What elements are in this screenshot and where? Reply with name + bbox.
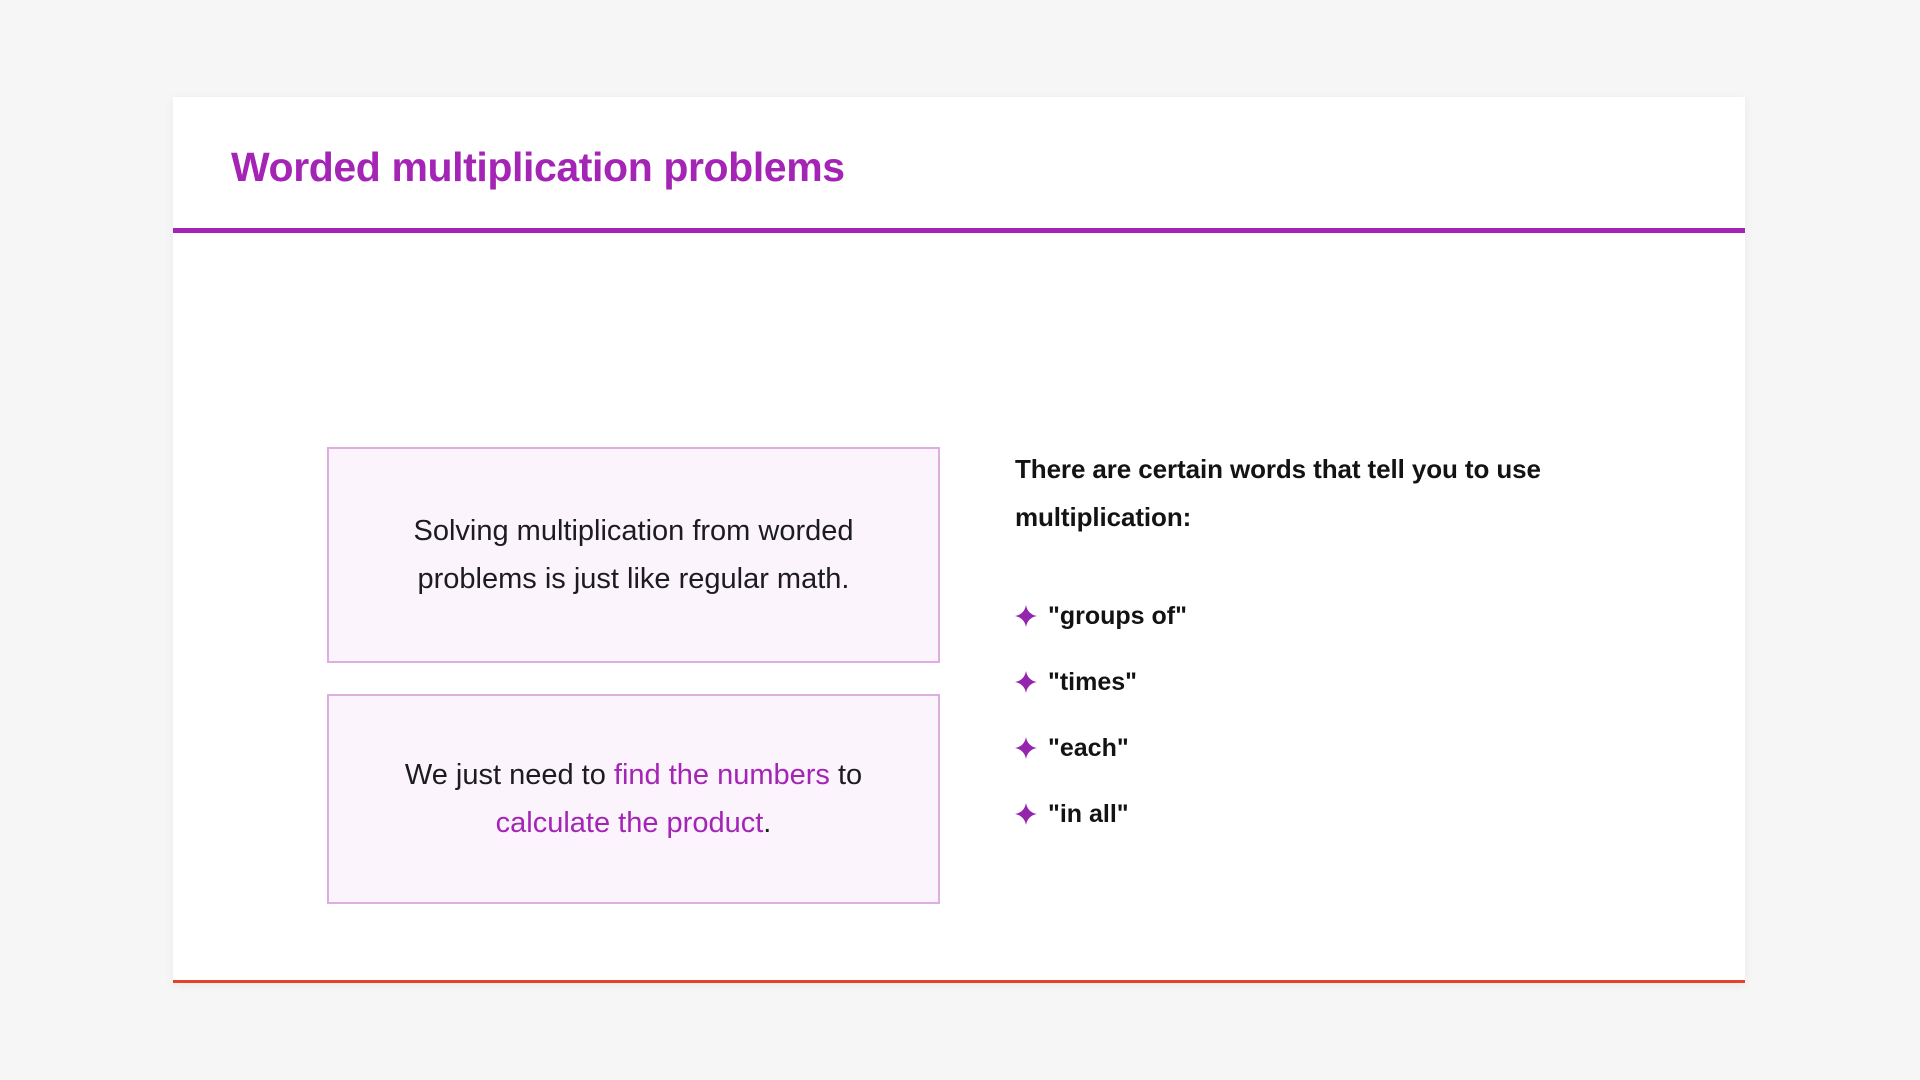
method-callout-text: We just need to find the numbers to calc…	[363, 751, 904, 847]
list-item: "in all"	[1015, 781, 1635, 847]
method-highlight-calculate-product: calculate the product	[496, 807, 764, 839]
slide-card: Worded multiplication problems Solving m…	[173, 97, 1745, 983]
slide-page: Worded multiplication problems Solving m…	[0, 0, 1920, 1080]
method-text-middle: to	[830, 759, 862, 791]
card-header: Worded multiplication problems	[173, 97, 1745, 230]
method-text-lead: We just need to	[405, 759, 614, 791]
keyword-list: "groups of" "times" "each"	[1015, 583, 1635, 847]
sparkle-icon	[1015, 605, 1037, 627]
left-column: Solving multiplication from worded probl…	[327, 447, 940, 904]
right-column: There are certain words that tell you to…	[1015, 445, 1635, 847]
keywords-heading: There are certain words that tell you to…	[1015, 445, 1635, 541]
method-callout-box: We just need to find the numbers to calc…	[327, 694, 940, 904]
list-item: "each"	[1015, 715, 1635, 781]
keyword-label: "in all"	[1048, 800, 1129, 829]
intro-callout-box: Solving multiplication from worded probl…	[327, 447, 940, 663]
method-text-tail: .	[763, 807, 771, 839]
method-highlight-find-numbers: find the numbers	[614, 759, 830, 791]
keyword-label: "each"	[1048, 734, 1129, 763]
page-title: Worded multiplication problems	[231, 144, 845, 191]
intro-callout-text: Solving multiplication from worded probl…	[363, 507, 904, 603]
sparkle-icon	[1015, 803, 1037, 825]
slide-content: Solving multiplication from worded probl…	[173, 230, 1745, 980]
list-item: "times"	[1015, 649, 1635, 715]
card-footer-divider	[173, 980, 1745, 983]
keyword-label: "groups of"	[1048, 602, 1187, 631]
keyword-label: "times"	[1048, 668, 1137, 697]
list-item: "groups of"	[1015, 583, 1635, 649]
sparkle-icon	[1015, 737, 1037, 759]
sparkle-icon	[1015, 671, 1037, 693]
